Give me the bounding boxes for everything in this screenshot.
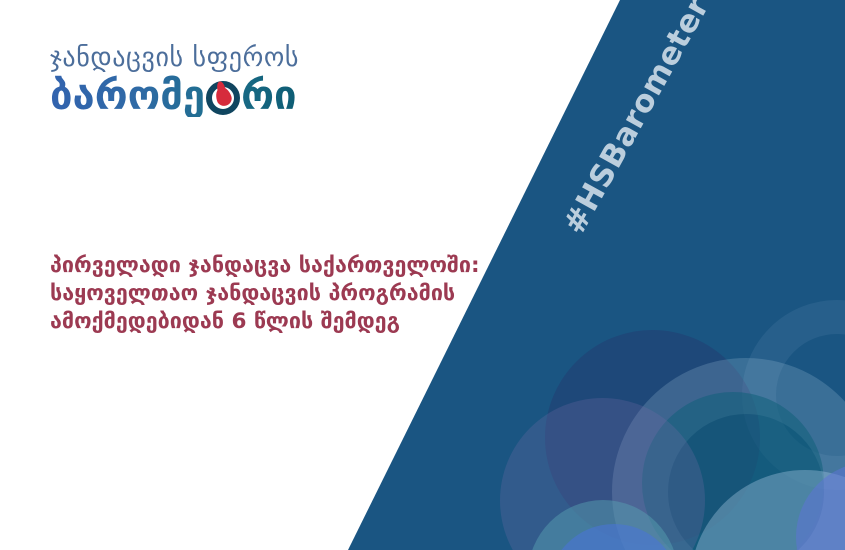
logo-wordmark: ბარომერი: [50, 75, 299, 117]
small-teal-circle-decoration: [528, 500, 678, 550]
faint-ring-decoration: [742, 300, 845, 490]
teal-circle-decoration: [642, 392, 824, 550]
purple-circle-decoration: [500, 398, 705, 550]
title-slide: #HSBarometer ჯანდაცვის სფეროს ბარომერი პ…: [0, 0, 845, 550]
blue-circle-decoration: [548, 524, 680, 550]
title-line-1: პირველადი ჯანდაცვა საქართველოში:: [50, 252, 480, 280]
brand-logo: ჯანდაცვის სფეროს ბარომერი: [50, 44, 299, 117]
navy-circle-decoration: [545, 330, 760, 545]
logo-tagline: ჯანდაცვის სფეროს: [50, 44, 299, 73]
logo-wordmark-second-part: რი: [241, 73, 296, 119]
blood-drop-icon: [206, 81, 240, 115]
light-blue-circle-decoration: [690, 470, 845, 550]
page-title: პირველადი ჯანდაცვა საქართველოში: საყოველ…: [50, 252, 480, 336]
large-light-ring-decoration: [612, 358, 845, 550]
title-line-3: ამოქმედებიდან 6 წლის შემდეგ: [50, 308, 480, 336]
logo-wordmark-first-part: ბარომე: [50, 73, 205, 119]
title-line-2: საყოველთაო ჯანდაცვის პროგრამის: [50, 280, 480, 308]
periwinkle-circle-decoration: [796, 462, 845, 550]
